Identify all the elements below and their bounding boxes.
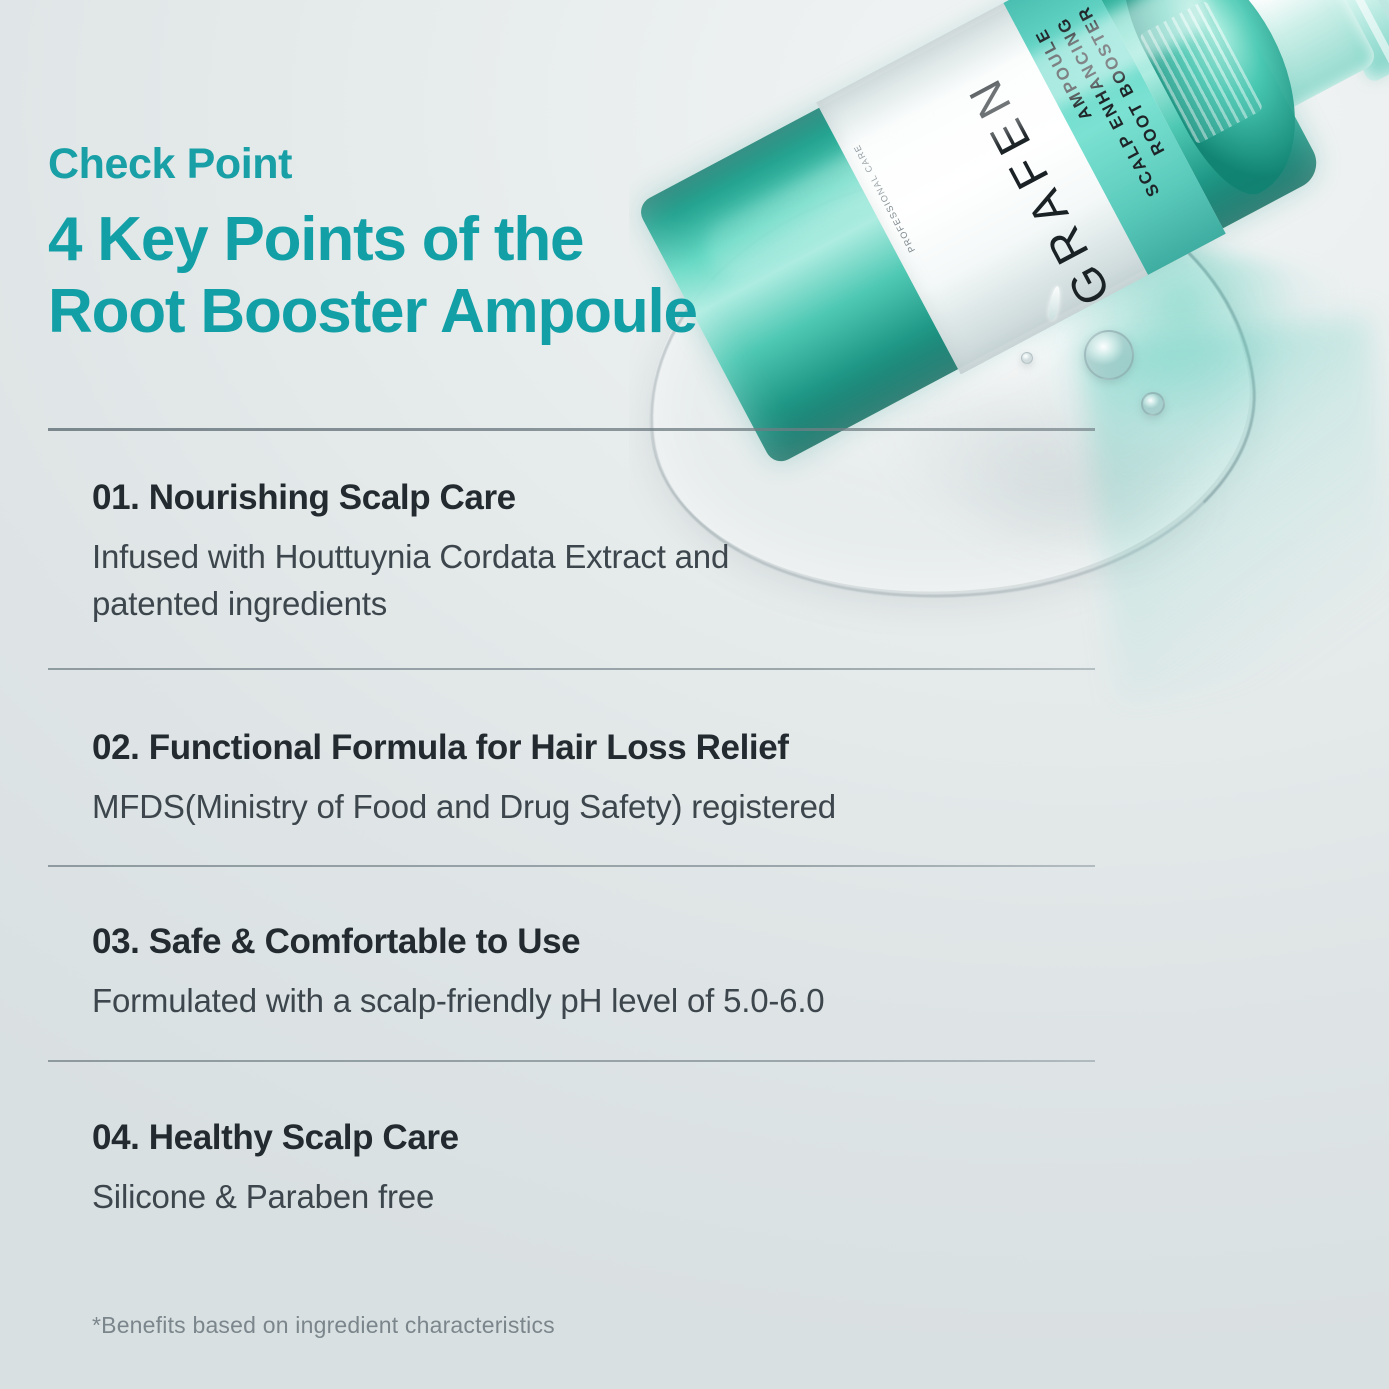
key-point-title: 01. Nourishing Scalp Care [92,478,1102,518]
key-point-item: 02. Functional Formula for Hair Loss Rel… [92,728,1102,831]
key-point-item: 03. Safe & Comfortable to Use Formulated… [92,922,1102,1025]
key-point-item: 04. Healthy Scalp Care Silicone & Parabe… [92,1118,1102,1221]
key-point-title: 04. Healthy Scalp Care [92,1118,1102,1158]
key-point-item: 01. Nourishing Scalp Care Infused with H… [92,478,1102,628]
eyebrow-label: Check Point [48,140,292,189]
product-info-page: GRAFEN ROOT BOOSTER SCALP ENHANCING AMPO… [0,0,1389,1389]
key-point-description: MFDS(Ministry of Food and Drug Safety) r… [92,784,1102,831]
divider [48,865,1095,867]
divider [48,668,1095,670]
page-title: 4 Key Points of the Root Booster Ampoule [48,204,697,348]
key-point-title: 02. Functional Formula for Hair Loss Rel… [92,728,1102,768]
divider [48,428,1095,431]
key-point-description: Silicone & Paraben free [92,1174,1102,1221]
key-point-description: Infused with Houttuynia Cordata Extract … [92,534,1102,628]
key-point-description: Formulated with a scalp-friendly pH leve… [92,978,1102,1025]
divider [48,1060,1095,1062]
key-point-title: 03. Safe & Comfortable to Use [92,922,1102,962]
footnote: *Benefits based on ingredient characteri… [92,1312,555,1339]
content-layer: Check Point 4 Key Points of the Root Boo… [0,0,1389,1389]
